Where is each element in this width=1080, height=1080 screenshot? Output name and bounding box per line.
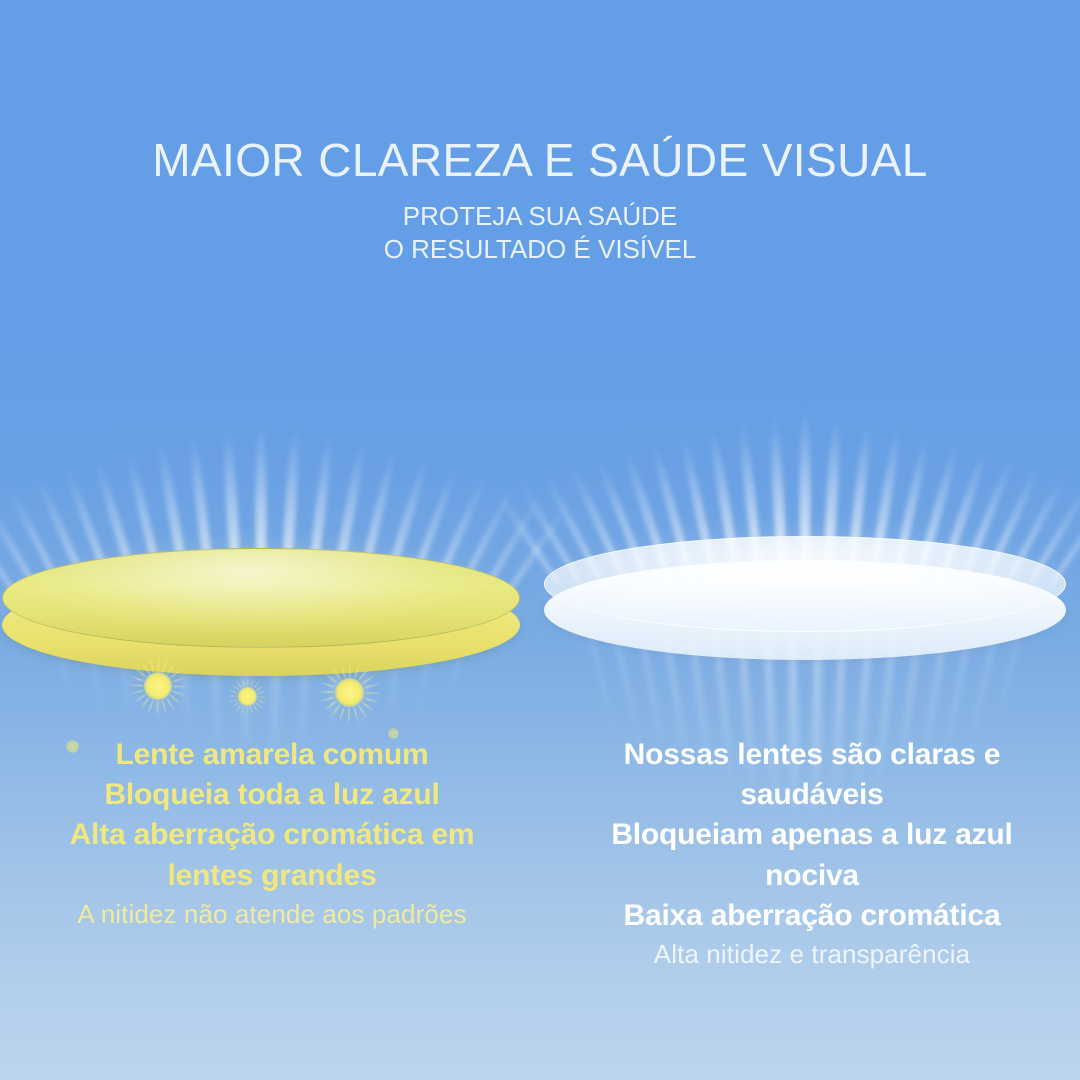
clear-lens-surface — [544, 536, 1066, 632]
caption-note: A nitidez não atende aos padrões — [12, 896, 532, 932]
headline-subtitle-1: PROTEJA SUA SAÚDE — [0, 200, 1080, 234]
promo-banner: MAIOR CLAREZA E SAÚDE VISUAL PROTEJA SUA… — [0, 0, 1080, 1080]
yellow-lens — [2, 548, 520, 693]
caption-line: Nossas lentes são claras e — [552, 735, 1072, 775]
clear-lens — [544, 536, 1066, 676]
caption-line: Bloqueiam apenas a luz azul — [552, 815, 1072, 855]
caption-note: Alta nitidez e transparência — [552, 936, 1072, 972]
headline-block: MAIOR CLAREZA E SAÚDE VISUAL PROTEJA SUA… — [0, 136, 1080, 267]
page-title: MAIOR CLAREZA E SAÚDE VISUAL — [0, 136, 1080, 186]
caption-line: saudáveis — [552, 775, 1072, 815]
caption-line: nociva — [552, 856, 1072, 896]
yellow-lens-surface — [2, 548, 520, 648]
headline-subtitle-2: O RESULTADO É VISÍVEL — [0, 233, 1080, 267]
caption-line: Lente amarela comum — [12, 735, 532, 775]
caption-yellow-lens: Lente amarela comum Bloqueia toda a luz … — [12, 735, 532, 932]
caption-line: Baixa aberração cromática — [552, 896, 1072, 936]
caption-line: lentes grandes — [12, 856, 532, 896]
caption-line: Alta aberração cromática em — [12, 815, 532, 855]
caption-clear-lens: Nossas lentes são claras e saudáveis Blo… — [552, 735, 1072, 972]
caption-line: Bloqueia toda a luz azul — [12, 775, 532, 815]
